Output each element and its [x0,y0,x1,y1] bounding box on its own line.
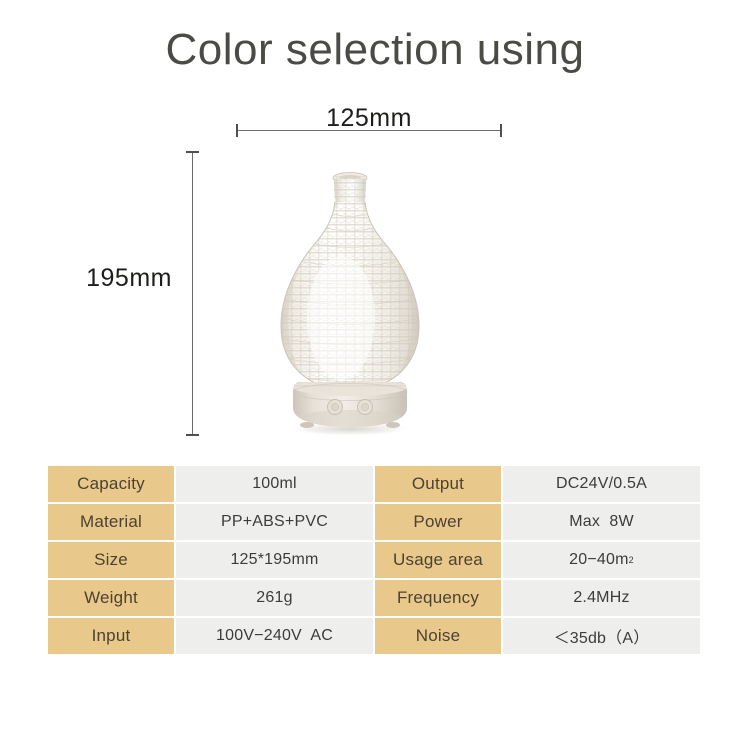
spec-label-noise: Noise [375,618,501,654]
height-dimension-label: 195mm [62,264,172,293]
table-row: Material PP+ABS+PVC [48,504,373,540]
table-row: Capacity 100ml [48,466,373,502]
spec-table-right-column: Output DC24V/0.5A Power Max 8W Usage are… [375,466,700,654]
spec-label-output: Output [375,466,501,502]
spec-label-capacity: Capacity [48,466,174,502]
product-spec-page: Color selection using 125mm 195mm [0,0,750,750]
base-foot-right [386,422,400,428]
spec-value-power: Max 8W [503,504,700,540]
spec-label-frequency: Frequency [375,580,501,616]
product-base [285,378,415,430]
spec-table-left-column: Capacity 100ml Material PP+ABS+PVC Size … [48,466,373,654]
spec-value-material: PP+ABS+PVC [176,504,373,540]
product-body [275,198,427,398]
table-row: Size 125*195mm [48,542,373,578]
width-dimension-tick-right [500,124,502,137]
specification-table: Capacity 100ml Material PP+ABS+PVC Size … [48,466,700,654]
table-row: Frequency 2.4MHz [375,580,700,616]
spec-label-input: Input [48,618,174,654]
table-row: Weight 261g [48,580,373,616]
spec-label-size: Size [48,542,174,578]
spec-value-frequency: 2.4MHz [503,580,700,616]
height-dimension-tick-bottom [186,434,199,436]
usage-area-number: 20−40m [569,551,628,569]
table-row: Power Max 8W [375,504,700,540]
spec-value-size: 125*195mm [176,542,373,578]
spec-value-weight: 261g [176,580,373,616]
height-dimension-line [192,151,193,435]
spec-value-usage-area: 20−40m2 [503,542,700,578]
spec-value-output: DC24V/0.5A [503,466,700,502]
height-dimension-tick-top [186,151,199,153]
spec-value-noise: ＜35db（A） [503,618,700,654]
table-row: Usage area 20−40m2 [375,542,700,578]
product-image-diffuser [255,168,445,436]
control-button-right[interactable] [358,400,373,415]
spec-value-capacity: 100ml [176,466,373,502]
spec-label-material: Material [48,504,174,540]
table-row: Output DC24V/0.5A [375,466,700,502]
spec-label-weight: Weight [48,580,174,616]
table-row: Input 100V−240V AC [48,618,373,654]
width-dimension-tick-left [236,124,238,137]
table-row: Noise ＜35db（A） [375,618,700,654]
width-dimension-line [236,130,502,131]
spec-value-input: 100V−240V AC [176,618,373,654]
spec-label-power: Power [375,504,501,540]
spec-label-usage-area: Usage area [375,542,501,578]
control-button-left[interactable] [328,400,343,415]
width-dimension-label: 125mm [236,104,502,133]
product-neck [330,173,370,207]
dimension-diagram: 125mm 195mm [0,0,750,460]
base-foot-left [300,422,314,428]
